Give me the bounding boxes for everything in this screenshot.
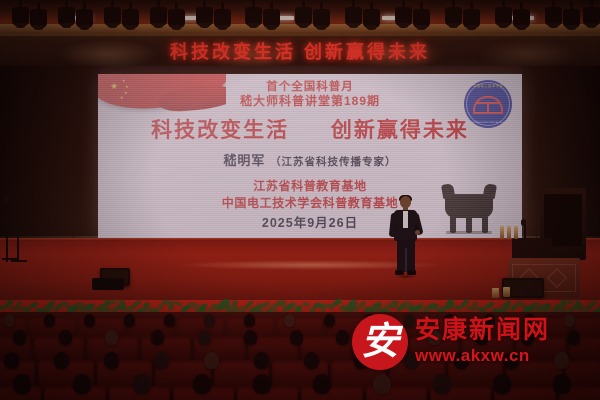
stage-light-fixture: [245, 0, 262, 30]
audience-member: [204, 314, 215, 327]
watermark-glyph: 安: [352, 314, 408, 370]
audience-member: [244, 314, 255, 327]
microphone-head-icon: [3, 196, 8, 203]
water-bottles: [500, 226, 528, 240]
stage-light-fixture: [263, 2, 280, 32]
microphone-head-icon: [14, 227, 19, 234]
stage-light-fixture: [104, 0, 121, 30]
audience-member: [304, 352, 319, 369]
audience-member: [44, 314, 55, 327]
audience-member: [124, 314, 135, 327]
audience-member: [284, 314, 295, 327]
desk-microphone-head-icon: [521, 219, 526, 226]
audience-member: [73, 374, 91, 394]
audience-member: [313, 374, 331, 394]
stage-light-fixture: [196, 0, 213, 30]
slide-speaker-line: 嵇明军 （江苏省科技传播专家）: [98, 150, 522, 169]
audience-seat: [301, 386, 362, 400]
audience-member: [13, 330, 26, 345]
stage-light-fixture: [413, 2, 430, 32]
audience-member: [59, 330, 72, 345]
banner-text: 科技改变生活 创新赢得未来: [0, 34, 600, 68]
microphone-stand: [17, 232, 19, 262]
slide-speaker-role: （江苏省科技传播专家）: [270, 156, 397, 168]
stage-light-fixture: [495, 0, 512, 30]
stage-light-fixture: [295, 0, 312, 30]
bronze-ding-icon: [436, 182, 502, 234]
stage-light-fixture: [30, 2, 47, 32]
audience-member: [193, 374, 211, 394]
slide-speaker-name: 嵇明军: [223, 153, 265, 168]
desk-equipment: [512, 238, 552, 260]
audience-member: [324, 314, 335, 327]
audience-member: [105, 330, 118, 345]
audience-member: [154, 352, 169, 369]
audience-member: [4, 314, 15, 327]
stage-light-fixture: [363, 2, 380, 32]
slide-heading: 首个全国科普月 嵇大师科普讲堂第189期: [98, 80, 522, 108]
audience-member: [151, 330, 164, 345]
audience-member: [254, 352, 269, 369]
stage-light-fixture: [168, 2, 185, 32]
audience-member: [244, 330, 257, 345]
audience-member: [290, 330, 303, 345]
stage-light-fixture: [313, 2, 330, 32]
audience-member: [253, 374, 271, 394]
slide-heading-line2: 嵇大师科普讲堂第189期: [98, 94, 522, 108]
audience-member: [198, 330, 211, 345]
slide-heading-line1: 首个全国科普月: [98, 80, 522, 94]
projection-screen: ★ ★ ★ ★ ★ 中国电工技术学会 China Electrotechnica…: [98, 74, 522, 238]
microphone-stand-base: [11, 260, 27, 262]
auditorium-photo: 科技改变生活 创新赢得未来 ★ ★ ★ ★ ★ 中国电工技术学会 China E…: [0, 0, 600, 400]
stage-light-fixture: [122, 2, 139, 32]
wall-mounted-display: [92, 278, 124, 290]
stage-light-fixture: [345, 0, 362, 30]
stage-light-pool: [120, 258, 500, 272]
stage-light-fixture: [150, 0, 167, 30]
stage-light-fixture: [445, 0, 462, 30]
audience-member: [336, 330, 349, 345]
slide-title-left: 科技改变生活: [151, 119, 289, 142]
stage-light-fixture: [214, 2, 231, 32]
stage-light-fixture: [513, 2, 530, 32]
stage-light-fixture: [395, 0, 412, 30]
slide-title-right: 创新赢得未来: [331, 119, 469, 142]
presenter: [388, 196, 422, 278]
audience-member: [133, 374, 151, 394]
audience-member: [104, 352, 119, 369]
stage-light-fixture: [76, 2, 93, 32]
stage-light-fixture: [463, 2, 480, 32]
stage-banner: 科技改变生活 创新赢得未来: [0, 34, 600, 68]
microphone-stand: [6, 200, 8, 262]
audience-member: [84, 314, 95, 327]
stage-light-fixture: [12, 0, 29, 30]
watermark-url: www.akxw.cn: [415, 346, 550, 366]
watermark-site-name: 安康新闻网: [415, 318, 550, 344]
ceiling-truss: [0, 0, 600, 36]
stage-light-fixture: [563, 2, 580, 32]
audience-member: [13, 374, 31, 394]
watermark: 安 安康新闻网 www.akxw.cn: [352, 305, 592, 379]
audience-member: [204, 352, 219, 369]
audience-member: [4, 352, 19, 369]
stage-light-fixture: [58, 0, 75, 30]
watermark-logo-icon: 安: [352, 314, 408, 370]
slide-title: 科技改变生活 创新赢得未来: [98, 114, 522, 144]
stage-light-fixture: [583, 0, 600, 30]
stage-light-fixture: [545, 0, 562, 30]
audience-member: [54, 352, 69, 369]
audience-member: [164, 314, 175, 327]
